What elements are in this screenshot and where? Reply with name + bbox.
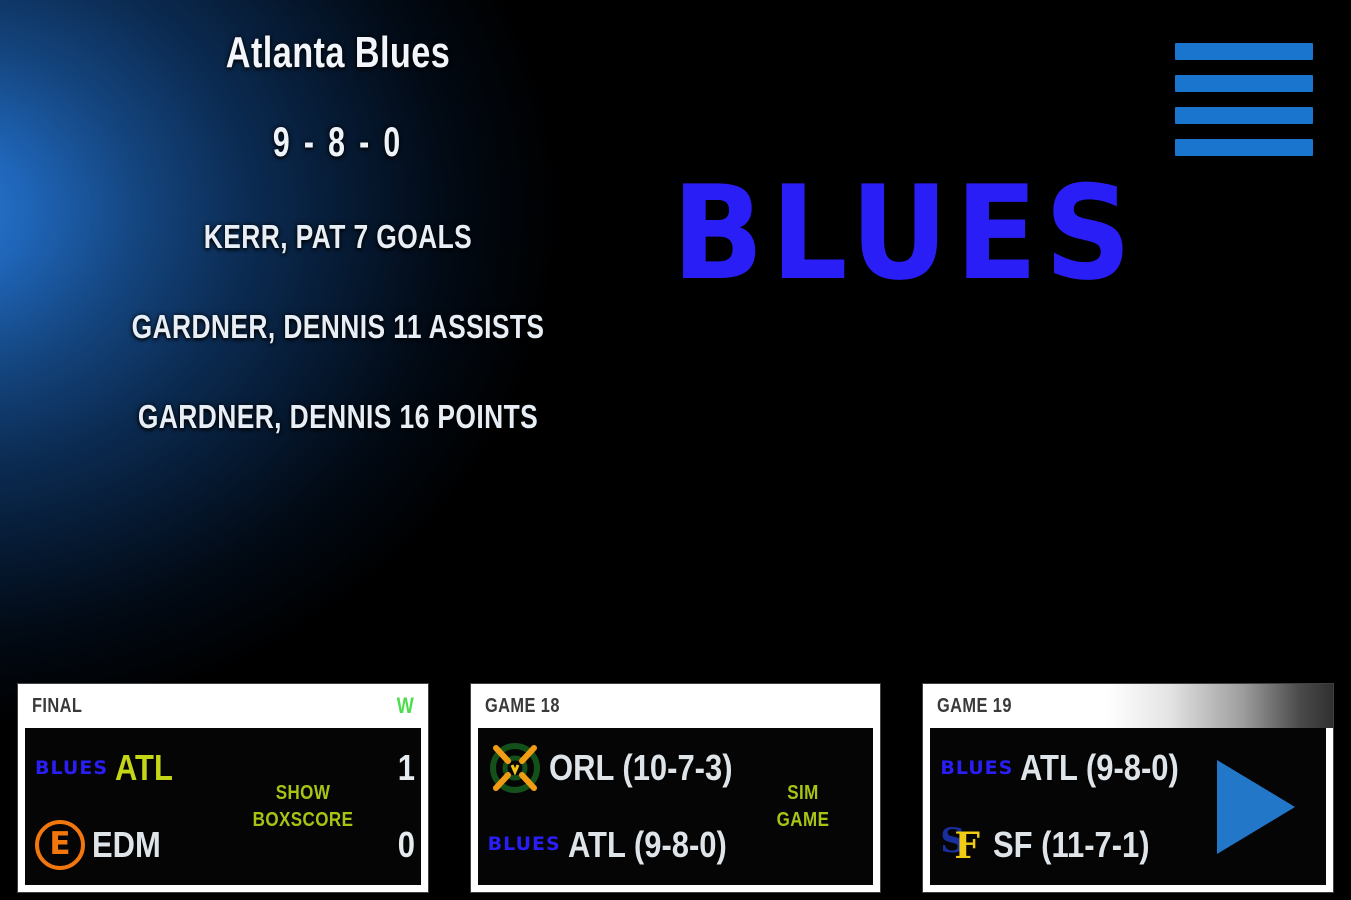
team-leader-points: GARDNER, DENNIS 16 POINTS: [68, 398, 609, 436]
away-team-score: 1: [373, 747, 414, 789]
menu-bar-3: [1175, 107, 1313, 124]
home-team-name: SF (11-7-1): [993, 824, 1150, 866]
orl-crossed-sticks-icon: [488, 741, 542, 795]
team-hub-screen: Atlanta Blues 9 - 8 - 0 KERR, PAT 7 GOAL…: [0, 0, 1351, 900]
menu-bar-1: [1175, 43, 1313, 60]
away-team-name: ATL: [115, 747, 173, 789]
action-line-1: SIM: [749, 780, 858, 807]
team-leader-goals: KERR, PAT 7 GOALS: [68, 218, 609, 256]
card-status-label: GAME 18: [485, 695, 560, 718]
blues-wordmark-icon: BLUES: [940, 759, 1013, 778]
play-game-button[interactable]: [1192, 760, 1320, 854]
team-leader-assists: GARDNER, DENNIS 11 ASSISTS: [68, 308, 609, 346]
team-info-column: Atlanta Blues 9 - 8 - 0 KERR, PAT 7 GOAL…: [0, 30, 676, 436]
away-team-name: ORL (10-7-3): [549, 747, 733, 789]
team-record: 9 - 8 - 0: [95, 118, 582, 166]
play-triangle-icon: [1217, 760, 1295, 854]
home-team-row: S F SF (11-7-1): [940, 820, 1192, 870]
action-line-1: SHOW: [248, 780, 357, 807]
card-header: GAME 19: [923, 684, 1333, 728]
edm-letter: E: [49, 829, 70, 860]
home-team-row: E EDM: [35, 820, 239, 870]
sf-letter-f: F: [954, 828, 980, 864]
home-team-name: ATL (9-8-0): [568, 824, 727, 866]
away-team-name: ATL (9-8-0): [1020, 747, 1179, 789]
game-card-row: FINAL W BLUES ATL SHOW BOXSCORE 1 E EDM: [0, 680, 1351, 900]
away-team-row: BLUES ATL (9-8-0): [940, 747, 1192, 789]
menu-bar-2: [1175, 75, 1313, 92]
action-line-2: BOXSCORE: [248, 807, 357, 834]
card-header: FINAL W: [18, 684, 428, 728]
card-status-label: FINAL: [32, 695, 82, 718]
game-card-final[interactable]: FINAL W BLUES ATL SHOW BOXSCORE 1 E EDM: [18, 684, 428, 892]
game-card-upcoming-18[interactable]: GAME 18: [471, 684, 881, 892]
card-status-label: GAME 19: [937, 695, 1012, 718]
team-wordmark-logo: BLUES: [672, 168, 1080, 298]
card-body: BLUES ATL SHOW BOXSCORE 1 E EDM 0: [25, 728, 421, 885]
home-team-name: EDM: [92, 824, 161, 866]
card-body: ORL (10-7-3) SIM GAME BLUES ATL (9-8-0): [478, 728, 874, 885]
sf-monogram-icon: S F: [940, 820, 986, 870]
show-boxscore-button[interactable]: SHOW BOXSCORE: [248, 780, 357, 834]
away-team-row: ORL (10-7-3): [488, 741, 740, 795]
card-header: GAME 18: [471, 684, 881, 728]
edm-oilers-icon: E: [35, 820, 85, 870]
page-title: Atlanta Blues: [74, 30, 601, 76]
blues-wordmark-icon: BLUES: [35, 759, 108, 778]
blues-wordmark-icon: BLUES: [488, 835, 561, 854]
card-body: BLUES ATL (9-8-0) S F SF (11-7-1): [930, 728, 1326, 885]
home-team-row: BLUES ATL (9-8-0): [488, 824, 740, 866]
menu-bar-4: [1175, 139, 1313, 156]
home-team-score: 0: [373, 824, 414, 866]
sim-game-button[interactable]: SIM GAME: [749, 780, 858, 834]
action-line-2: GAME: [749, 807, 858, 834]
game-card-upcoming-19[interactable]: GAME 19 BLUES ATL (9-8-0) S F SF (11-7-1…: [923, 684, 1333, 892]
hamburger-menu-icon[interactable]: [1175, 43, 1313, 156]
away-team-row: BLUES ATL: [35, 747, 239, 789]
status-badge: W: [397, 693, 414, 719]
